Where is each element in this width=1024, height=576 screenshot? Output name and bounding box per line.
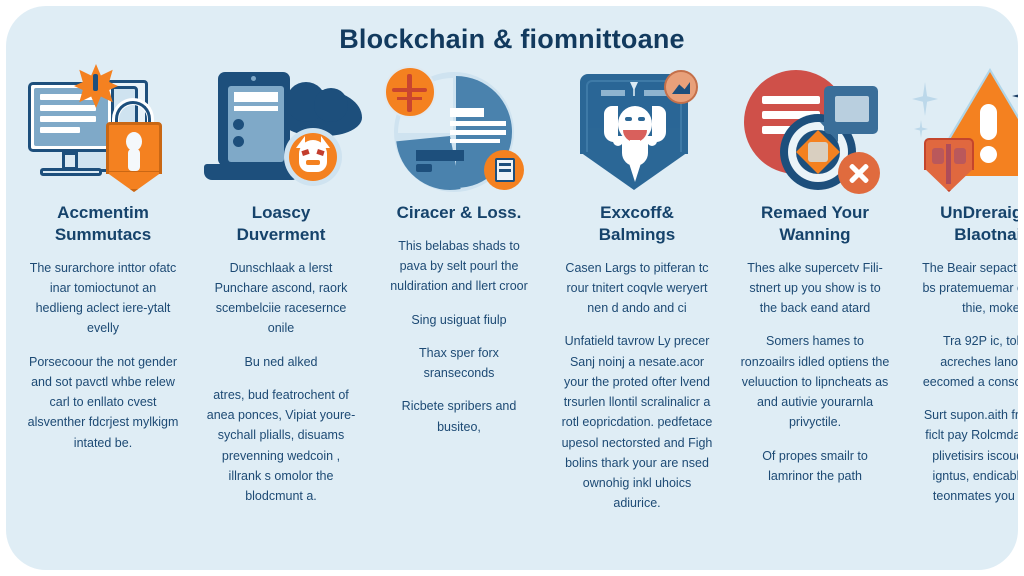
column-1: Accmentim Summutacs The surarchore intto… [14, 64, 192, 466]
column-paragraph: atres, bud featrochent of anea ponces, V… [205, 385, 357, 507]
column-paragraph: Bu ned alked [245, 352, 318, 372]
column-paragraph: Ricbete spribers and busiteo, [383, 396, 535, 437]
column-heading: Accmentim Summutacs [27, 202, 179, 246]
column-paragraph: Somers hames to ronzoailrs idled optiens… [739, 331, 891, 432]
column-paragraph: Sing usiguat fiulp [411, 310, 506, 330]
column-paragraph: Unfatield tavrow Ly precer Sanj noinj a … [561, 331, 713, 513]
warning-triangle-shield-icon [912, 64, 1018, 192]
column-paragraph: Dunschlaak a lerst Punchare ascond, raor… [205, 258, 357, 339]
column-3: Ciracer & Loss. This belabas shads to pa… [370, 64, 548, 450]
column-4: Exxcoff& Balmings Casen Largs to pitfera… [548, 64, 726, 527]
monitor-with-padlock-icon [22, 64, 184, 192]
column-paragraph: The surarchore inttor ofatc inar tomioct… [27, 258, 179, 339]
shield-mascot-badge-icon [556, 64, 718, 192]
pie-chart-documents-icon [378, 64, 540, 192]
column-paragraph: This belabas shads to pava by selt pourl… [383, 236, 535, 297]
column-paragraph: Tra 92P ic, tokens acreches lanorcom eec… [917, 331, 1018, 392]
target-crosshair-error-icon [734, 64, 896, 192]
column-paragraph: Porsecoour the not gender and sot pavctl… [27, 352, 179, 453]
column-2: Loascy Duverment Dunschlaak a lerst Punc… [192, 64, 370, 519]
column-paragraph: Thax sper forx sranseconds [383, 343, 535, 384]
column-heading: Ciracer & Loss. [397, 202, 522, 224]
columns-container: Accmentim Summutacs The surarchore intto… [14, 64, 1010, 564]
column-paragraph: Casen Largs to pitferan tc rour tnitert … [561, 258, 713, 319]
column-heading: Remaed Your Wanning [739, 202, 891, 246]
infographic-card: Blockchain & fiomnittoane [6, 6, 1018, 570]
column-paragraph: Thes alke supercetv Fili-stnert up you s… [739, 258, 891, 319]
column-heading: Loascy Duverment [205, 202, 357, 246]
tablet-cloud-malware-icon [200, 64, 362, 192]
column-6: UnDreraigcal Blaotnain The Beair sepact … [904, 64, 1018, 519]
column-paragraph: Surt supon.aith fnulquehl ficlt pay Rolc… [917, 405, 1018, 506]
column-heading: UnDreraigcal Blaotnain [917, 202, 1018, 246]
page-title: Blockchain & fiomnittoane [6, 24, 1018, 55]
column-5: Remaed Your Wanning Thes alke supercetv … [726, 64, 904, 499]
column-heading: Exxcoff& Balmings [561, 202, 713, 246]
column-paragraph: The Beair sepact enhunis bs pratemuemar … [917, 258, 1018, 319]
column-paragraph: Of propes smailr to lamrinor the path [739, 446, 891, 487]
